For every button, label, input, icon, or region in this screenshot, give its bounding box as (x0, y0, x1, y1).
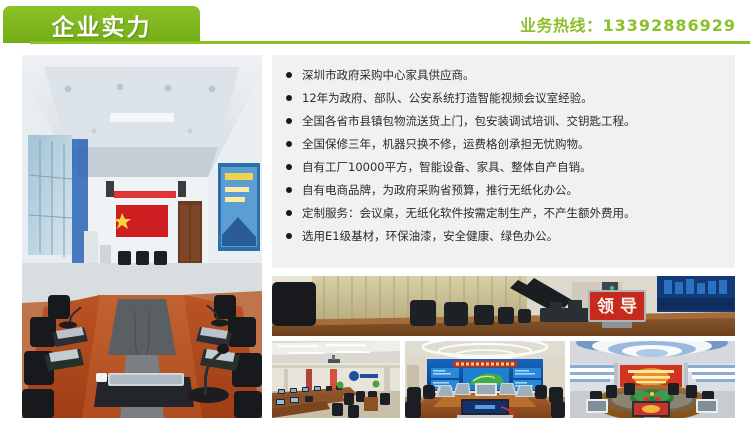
photo-command-center (405, 341, 565, 418)
list-item: 定制服务：会议桌，无纸化软件按需定制生产，不产生额外费用。 (286, 204, 725, 222)
feature-text: 自有工厂10000平方，智能设备、家具、整体自产自销。 (302, 160, 592, 174)
bullet-dot-icon (286, 141, 292, 147)
feature-list-panel: 深圳市政府采购中心家具供应商。 12年为政府、部队、公安系统打造智能视频会议室经… (272, 55, 735, 268)
feature-text: 定制服务：会议桌，无纸化软件按需定制生产，不产生额外费用。 (302, 206, 636, 220)
hotline: 业务热线：13392886929 (520, 12, 736, 36)
feature-text: 全国各省市县镇包物流送货上门，包安装调试培训、交钥匙工程。 (302, 114, 636, 128)
bullet-dot-icon (286, 233, 292, 239)
feature-text: 深圳市政府采购中心家具供应商。 (302, 68, 475, 82)
feature-list: 深圳市政府采购中心家具供应商。 12年为政府、部队、公安系统打造智能视频会议室经… (286, 66, 725, 245)
list-item: 选用E1级基材，环保油漆，安全健康、绿色办公。 (286, 227, 725, 245)
list-item: 12年为政府、部队、公安系统打造智能视频会议室经验。 (286, 89, 725, 107)
list-item: 自有电商品牌，为政府采购省预算，推行无纸化办公。 (286, 181, 725, 199)
bullet-dot-icon (286, 118, 292, 124)
list-item: 全国保修三年，机器只换不修，运费格创承担无忧购物。 (286, 135, 725, 153)
list-item: 深圳市政府采购中心家具供应商。 (286, 66, 725, 84)
header-divider (30, 41, 750, 44)
training-room-monitors-illustration (272, 341, 400, 418)
bullet-dot-icon (286, 164, 292, 170)
photo-conference-room-main (22, 55, 262, 418)
svg-text:领 导: 领 导 (597, 296, 637, 317)
bullet-dot-icon (286, 210, 292, 216)
page-header: 企业实力 业务热线：13392886929 (0, 0, 750, 48)
conference-room-red-table-illustration (22, 55, 262, 418)
page-title: 企业实力 (3, 6, 200, 43)
list-item: 自有工厂10000平方，智能设备、家具、整体自产自销。 (286, 158, 725, 176)
hotline-number: 13392886929 (603, 16, 736, 35)
bullet-dot-icon (286, 95, 292, 101)
feature-text: 全国保修三年，机器只换不修，运费格创承担无忧购物。 (302, 137, 590, 151)
section-title-tab: 企业实力 (3, 6, 200, 43)
content-stage: 深圳市政府采购中心家具供应商。 12年为政府、部队、公安系统打造智能视频会议室经… (0, 48, 750, 424)
bullet-dot-icon (286, 72, 292, 78)
feature-text: 选用E1级基材，环保油漆，安全健康、绿色办公。 (302, 229, 558, 243)
command-center-led-wall-illustration (405, 341, 565, 418)
feature-text: 12年为政府、部队、公安系统打造智能视频会议室经验。 (302, 91, 593, 105)
round-table-led-hall-illustration (570, 341, 735, 418)
bullet-dot-icon (286, 187, 292, 193)
list-item: 全国各省市县镇包物流送货上门，包安装调试培训、交钥匙工程。 (286, 112, 725, 130)
hotline-label: 业务热线： (520, 16, 603, 35)
conference-room-leader-nameplate-illustration: 领 导 (272, 276, 735, 336)
photo-training-room (272, 341, 400, 418)
photo-leader-nameplate-strip: 领 导 (272, 276, 735, 336)
feature-text: 自有电商品牌，为政府采购省预算，推行无纸化办公。 (302, 183, 578, 197)
photo-round-table-hall (570, 341, 735, 418)
